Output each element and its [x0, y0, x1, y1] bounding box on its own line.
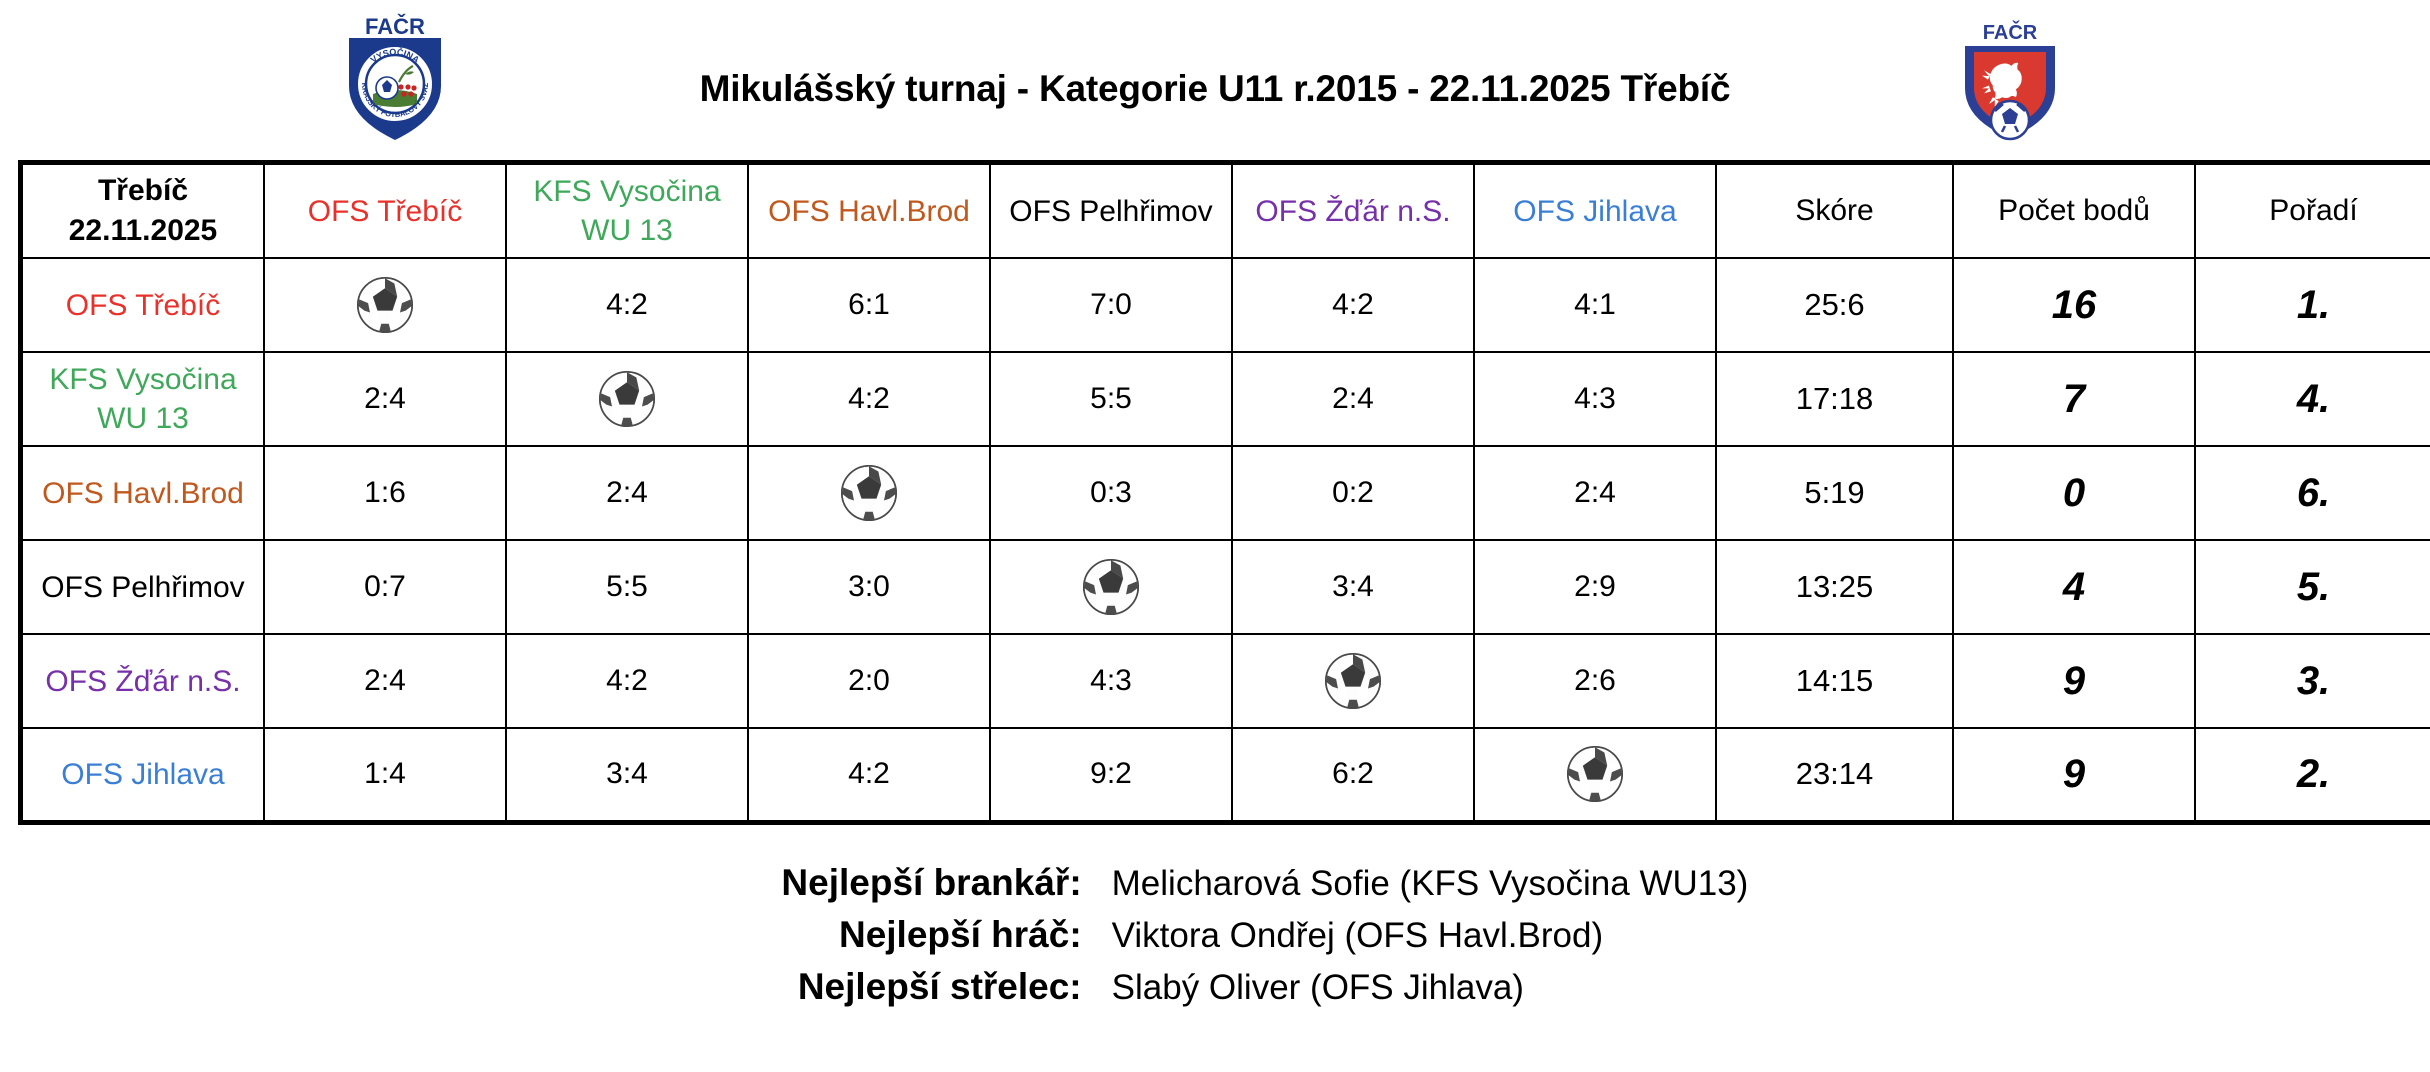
row-team-label-line1: OFS Žďár n.S. [23, 662, 263, 701]
match-result-cell: 4:2 [506, 258, 748, 352]
match-result: 2:4 [364, 382, 406, 415]
row-points: 0 [2063, 471, 2085, 515]
match-result-cell: 0:2 [1232, 446, 1474, 540]
row-rank-cell: 6. [2195, 446, 2430, 540]
match-result-cell: 4:1 [1474, 258, 1716, 352]
row-score-cell: 13:25 [1716, 540, 1953, 634]
row-rank: 4. [2297, 377, 2330, 421]
header-label: OFS Havl.Brod [749, 192, 989, 231]
match-result: 3:4 [1332, 570, 1374, 603]
row-score-cell: 17:18 [1716, 352, 1953, 446]
match-result: 2:0 [848, 664, 890, 697]
table-row: OFS Jihlava1:43:44:29:26:2 23:1492. [21, 728, 2430, 822]
match-result-cell: 2:4 [264, 352, 506, 446]
row-team-label-line1: OFS Pelhřimov [23, 568, 263, 607]
match-result-cell: 2:9 [1474, 540, 1716, 634]
row-team-name: OFS Pelhřimov [21, 540, 265, 634]
self-match-ball-cell [506, 352, 748, 446]
header-label: OFS Jihlava [1475, 192, 1715, 231]
match-result: 4:2 [848, 382, 890, 415]
match-result-cell: 4:2 [748, 728, 990, 822]
standings-table: Třebíč 22.11.2025 OFS Třebíč KFS Vysočin… [18, 160, 2430, 825]
row-rank-cell: 3. [2195, 634, 2430, 728]
match-result: 1:6 [364, 476, 406, 509]
match-result: 4:2 [606, 288, 648, 321]
soccer-ball-icon [597, 369, 657, 429]
header-label-line1: KFS Vysočina [507, 172, 747, 211]
soccer-ball-icon [1565, 744, 1625, 804]
row-rank: 3. [2297, 659, 2330, 703]
svg-text:FAČR: FAČR [1983, 20, 2038, 44]
row-rank-cell: 1. [2195, 258, 2430, 352]
table-row: OFS Pelhřimov0:75:53:0 3:42:913:2545. [21, 540, 2430, 634]
match-result-cell: 2:0 [748, 634, 990, 728]
match-result: 0:2 [1332, 476, 1374, 509]
match-result: 2:4 [364, 664, 406, 697]
match-result-cell: 4:3 [1474, 352, 1716, 446]
row-score: 5:19 [1804, 475, 1864, 510]
match-result: 5:5 [606, 570, 648, 603]
match-result-cell: 2:4 [1474, 446, 1716, 540]
row-score: 17:18 [1796, 381, 1874, 416]
header-col-pocet-bodu: Počet bodů [1953, 163, 2195, 259]
header-label: OFS Třebíč [265, 192, 505, 231]
awards-grid: Nejlepší brankář:Melicharová Sofie (KFS … [682, 862, 1749, 1008]
corner-city: Třebíč [98, 174, 188, 207]
soccer-ball-icon [1081, 557, 1141, 617]
match-result-cell: 6:1 [748, 258, 990, 352]
match-result: 7:0 [1090, 288, 1132, 321]
match-result-cell: 5:5 [990, 352, 1232, 446]
header-col-ofs-trebic: OFS Třebíč [264, 163, 506, 259]
svg-text:FAČR: FAČR [365, 14, 425, 39]
row-points-cell: 0 [1953, 446, 2195, 540]
match-result-cell: 0:7 [264, 540, 506, 634]
row-team-name: OFS Jihlava [21, 728, 265, 822]
award-label: Nejlepší brankář: [682, 862, 1082, 904]
row-rank-cell: 4. [2195, 352, 2430, 446]
row-team-name: OFS Havl.Brod [21, 446, 265, 540]
header-label-line2: WU 13 [507, 211, 747, 250]
match-result-cell: 2:4 [264, 634, 506, 728]
table-body: OFS Třebíč 4:26:17:04:24:125:6161.KFS Vy… [21, 258, 2430, 822]
row-points-cell: 9 [1953, 728, 2195, 822]
row-points: 9 [2063, 752, 2085, 796]
self-match-ball-cell [990, 540, 1232, 634]
header-col-poradi: Pořadí [2195, 163, 2430, 259]
row-team-name: KFS VysočinaWU 13 [21, 352, 265, 446]
header-label: OFS Pelhřimov [991, 192, 1231, 231]
table-head: Třebíč 22.11.2025 OFS Třebíč KFS Vysočin… [21, 163, 2430, 259]
header-col-ofs-pelhrimov: OFS Pelhřimov [990, 163, 1232, 259]
row-points: 16 [2052, 283, 2097, 327]
row-points: 9 [2063, 659, 2085, 703]
match-result: 2:4 [1332, 382, 1374, 415]
match-result-cell: 7:0 [990, 258, 1232, 352]
row-rank: 1. [2297, 283, 2330, 327]
match-result: 5:5 [1090, 382, 1132, 415]
row-score-cell: 23:14 [1716, 728, 1953, 822]
row-score: 13:25 [1796, 569, 1874, 604]
row-rank: 6. [2297, 471, 2330, 515]
row-team-name: OFS Žďár n.S. [21, 634, 265, 728]
corner-date: 22.11.2025 [69, 214, 218, 247]
match-result-cell: 4:2 [748, 352, 990, 446]
table-header-row: Třebíč 22.11.2025 OFS Třebíč KFS Vysočin… [21, 163, 2430, 259]
match-result: 6:2 [1332, 757, 1374, 790]
row-score: 25:6 [1804, 287, 1864, 322]
match-result-cell: 1:6 [264, 446, 506, 540]
award-value: Slabý Oliver (OFS Jihlava) [1112, 968, 1749, 1008]
self-match-ball-cell [264, 258, 506, 352]
row-points-cell: 16 [1953, 258, 2195, 352]
match-result-cell: 5:5 [506, 540, 748, 634]
table-row: OFS Havl.Brod1:62:4 0:30:22:45:1906. [21, 446, 2430, 540]
standings-table-wrap: Třebíč 22.11.2025 OFS Třebíč KFS Vysočin… [18, 160, 2413, 825]
match-result-cell: 2:4 [1232, 352, 1474, 446]
table-row: OFS Žďár n.S.2:44:22:04:3 2:614:1593. [21, 634, 2430, 728]
row-points: 7 [2063, 377, 2085, 421]
row-team-name: OFS Třebíč [21, 258, 265, 352]
match-result: 4:2 [1332, 288, 1374, 321]
header-col-ofs-havl-brod: OFS Havl.Brod [748, 163, 990, 259]
soccer-ball-icon [839, 463, 899, 523]
soccer-ball-icon [355, 275, 415, 335]
match-result-cell: 3:0 [748, 540, 990, 634]
match-result: 4:2 [848, 757, 890, 790]
table-row: KFS VysočinaWU 132:4 4:25:52:44:317:1874… [21, 352, 2430, 446]
award-value: Viktora Ondřej (OFS Havl.Brod) [1112, 916, 1749, 956]
row-score: 14:15 [1796, 663, 1874, 698]
row-rank: 5. [2297, 565, 2330, 609]
row-score-cell: 25:6 [1716, 258, 1953, 352]
facr-logo: FAČR [1945, 12, 2075, 142]
header-col-kfs-vysocina: KFS Vysočina WU 13 [506, 163, 748, 259]
page-header: FAČR VYSOČINA KRAJSK [0, 0, 2430, 148]
match-result-cell: 3:4 [1232, 540, 1474, 634]
match-result-cell: 1:4 [264, 728, 506, 822]
row-team-label-line1: KFS Vysočina [23, 360, 263, 399]
match-result: 4:3 [1090, 664, 1132, 697]
row-score-cell: 5:19 [1716, 446, 1953, 540]
header-label: OFS Žďár n.S. [1233, 192, 1473, 231]
header-corner: Třebíč 22.11.2025 [21, 163, 265, 259]
match-result: 1:4 [364, 757, 406, 790]
row-score: 23:14 [1796, 756, 1874, 791]
match-result: 9:2 [1090, 757, 1132, 790]
row-score-cell: 14:15 [1716, 634, 1953, 728]
match-result: 4:1 [1574, 288, 1616, 321]
match-result-cell: 4:3 [990, 634, 1232, 728]
row-points-cell: 9 [1953, 634, 2195, 728]
match-result: 2:4 [606, 476, 648, 509]
match-result: 2:4 [1574, 476, 1616, 509]
match-result-cell: 9:2 [990, 728, 1232, 822]
row-team-label-line2: WU 13 [23, 399, 263, 438]
row-points-cell: 7 [1953, 352, 2195, 446]
row-rank: 2. [2297, 752, 2330, 796]
row-points: 4 [2063, 565, 2085, 609]
match-result-cell: 4:2 [506, 634, 748, 728]
award-label: Nejlepší hráč: [682, 914, 1082, 956]
self-match-ball-cell [1232, 634, 1474, 728]
row-points-cell: 4 [1953, 540, 2195, 634]
match-result: 2:9 [1574, 570, 1616, 603]
award-label: Nejlepší střelec: [682, 966, 1082, 1008]
table-row: OFS Třebíč 4:26:17:04:24:125:6161. [21, 258, 2430, 352]
match-result-cell: 6:2 [1232, 728, 1474, 822]
row-team-label-line1: OFS Třebíč [23, 286, 263, 325]
match-result-cell: 3:4 [506, 728, 748, 822]
match-result: 6:1 [848, 288, 890, 321]
row-team-label-line1: OFS Havl.Brod [23, 474, 263, 513]
match-result: 3:4 [606, 757, 648, 790]
row-team-label-line1: OFS Jihlava [23, 755, 263, 794]
header-col-skore: Skóre [1716, 163, 1953, 259]
match-result: 4:3 [1574, 382, 1616, 415]
row-rank-cell: 5. [2195, 540, 2430, 634]
match-result-cell: 4:2 [1232, 258, 1474, 352]
match-result-cell: 0:3 [990, 446, 1232, 540]
match-result: 2:6 [1574, 664, 1616, 697]
row-rank-cell: 2. [2195, 728, 2430, 822]
self-match-ball-cell [748, 446, 990, 540]
soccer-ball-icon [1323, 651, 1383, 711]
match-result: 4:2 [606, 664, 648, 697]
match-result-cell: 2:4 [506, 446, 748, 540]
match-result-cell: 2:6 [1474, 634, 1716, 728]
match-result: 0:7 [364, 570, 406, 603]
header-col-ofs-jihlava: OFS Jihlava [1474, 163, 1716, 259]
match-result: 3:0 [848, 570, 890, 603]
award-value: Melicharová Sofie (KFS Vysočina WU13) [1112, 864, 1749, 904]
awards-section: Nejlepší brankář:Melicharová Sofie (KFS … [0, 862, 2430, 1008]
match-result: 0:3 [1090, 476, 1132, 509]
self-match-ball-cell [1474, 728, 1716, 822]
header-col-ofs-zdar: OFS Žďár n.S. [1232, 163, 1474, 259]
